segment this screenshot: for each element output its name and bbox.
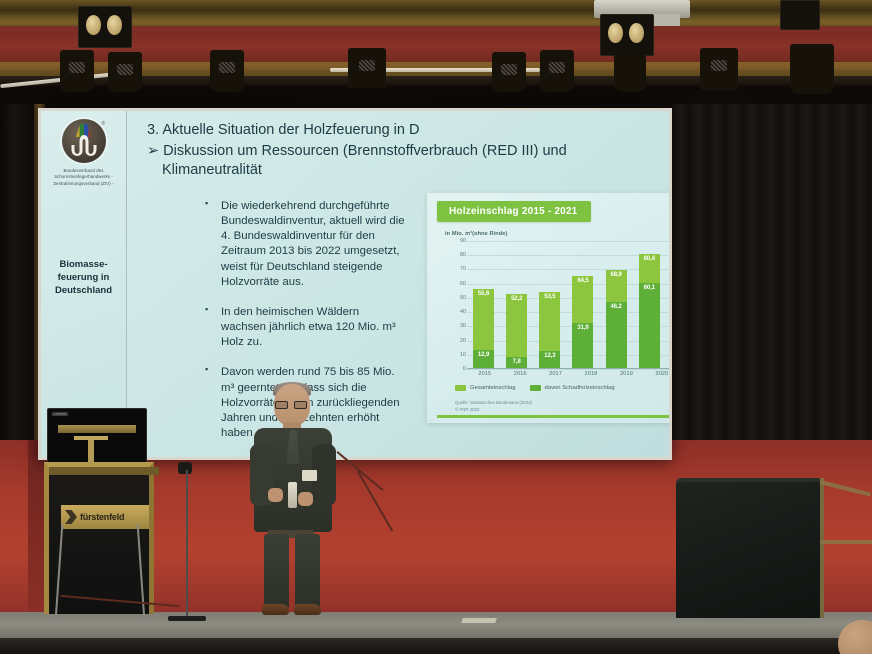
bar-value-label: 55,6 bbox=[473, 291, 494, 297]
bullet-item: Die wiederkehrend durchgeführte Bundeswa… bbox=[205, 199, 405, 290]
presentation-clicker bbox=[288, 482, 297, 508]
presenter-glasses bbox=[275, 401, 309, 409]
chart-axis-unit-label: in Mio. m³(ohne Rinde) bbox=[445, 231, 507, 237]
chart-bottom-rule bbox=[437, 415, 669, 418]
y-tick-label: 80 bbox=[453, 252, 466, 258]
stage-rail-post bbox=[820, 478, 824, 618]
chart-x-tick-labels: 2015201620172018201920202021 bbox=[467, 371, 669, 377]
chart-bar: 68,946,2 bbox=[606, 270, 627, 368]
bar-segment-schadholz: 31,9 bbox=[572, 323, 593, 368]
y-tick-label: 40 bbox=[453, 309, 466, 315]
monitor-base bbox=[74, 436, 108, 440]
light-mesh bbox=[69, 62, 85, 73]
stage-edge bbox=[0, 638, 872, 654]
chart-plot-area: 9080706050403020100 55,612,952,27,853,51… bbox=[453, 241, 669, 369]
presenter-left-hand bbox=[268, 488, 283, 502]
par-can-light bbox=[60, 50, 94, 92]
par-can-light bbox=[790, 44, 834, 94]
registered-trademark-icon: ® bbox=[102, 121, 106, 127]
bar-value-label: 53,5 bbox=[539, 294, 560, 300]
y-tick-label: 50 bbox=[453, 295, 466, 301]
par-can-light bbox=[492, 52, 526, 92]
x-tick-label: 2018 bbox=[580, 371, 601, 377]
par-can-light bbox=[540, 50, 574, 92]
bar-segment-schadholz: 12,9 bbox=[473, 350, 494, 368]
y-tick-label: 70 bbox=[453, 266, 466, 272]
lamp-lens bbox=[629, 23, 644, 43]
fnr-leaf-icon bbox=[668, 396, 669, 409]
venue-name-label: fürstenfeld bbox=[80, 512, 124, 522]
venue-arrow-icon bbox=[65, 510, 77, 524]
subheading-line-2: Klimaneutralität bbox=[162, 161, 659, 180]
chart-bar: 55,612,9 bbox=[473, 289, 494, 368]
source-line: Quelle: Statistisches Bundesamt (2022) bbox=[455, 400, 532, 407]
par-can-light bbox=[108, 52, 142, 92]
bar-value-label: 60,1 bbox=[639, 285, 660, 291]
x-tick-label: 2020 bbox=[651, 371, 669, 377]
presenter-leg bbox=[295, 534, 320, 608]
ceiling-rig bbox=[0, 0, 872, 104]
y-tick-label: 0 bbox=[453, 366, 466, 372]
floor-tape-mark bbox=[461, 618, 497, 623]
stage-light bbox=[600, 14, 654, 56]
stage-rail bbox=[820, 540, 872, 544]
slide-heading: 3. Aktuelle Situation der Holzfeuerung i… bbox=[147, 121, 655, 139]
legend-swatch-gesamteinschlag bbox=[455, 385, 466, 391]
bar-segment-gesamteinschlag: 68,9 bbox=[606, 270, 627, 302]
bar-value-label: 12,9 bbox=[473, 352, 494, 358]
bar-value-label: 12,3 bbox=[539, 353, 560, 359]
chart-legend: Gesamteinschlag davon Schadholzeinschlag bbox=[455, 385, 615, 391]
copyright-line: © FNR 2022 bbox=[455, 407, 532, 414]
chart-source-note: Quelle: Statistisches Bundesamt (2022) ©… bbox=[455, 400, 532, 413]
subheading-line-1: Diskussion um Ressourcen (Brennstoffverb… bbox=[163, 143, 566, 159]
par-can-light bbox=[210, 50, 244, 92]
bar-segment-gesamteinschlag: 55,6 bbox=[473, 289, 494, 350]
bar-value-label: 64,5 bbox=[572, 278, 593, 284]
light-mesh bbox=[711, 60, 727, 71]
bar-segment-schadholz: 60,1 bbox=[639, 283, 660, 368]
y-tick-label: 20 bbox=[453, 338, 466, 344]
microphone-stand bbox=[186, 470, 188, 620]
presentation-slide: ® Bundesverband des Schornsteinfegerhand… bbox=[41, 111, 669, 457]
light-mesh bbox=[549, 62, 565, 73]
ziv-logo-icon: ® bbox=[62, 119, 106, 163]
chimney-sweep-emblem-icon bbox=[70, 134, 98, 156]
bar-value-label: 31,9 bbox=[572, 325, 593, 331]
lamp-lens bbox=[107, 15, 122, 35]
legend-item-total: Gesamteinschlag bbox=[455, 385, 516, 391]
legend-swatch-schadholz bbox=[530, 385, 541, 391]
holzeinschlag-chart: Holzeinschlag 2015 - 2021 in Mio. m³(ohn… bbox=[427, 193, 669, 423]
bullet-item: In den heimischen Wäldern wachsen jährli… bbox=[205, 305, 405, 350]
y-tick-label: 10 bbox=[453, 352, 466, 358]
ceiling-speaker bbox=[296, 88, 428, 104]
chart-bar: 53,512,3 bbox=[539, 292, 560, 368]
bar-segment-gesamteinschlag: 53,5 bbox=[539, 292, 560, 351]
chart-bar: 64,531,9 bbox=[572, 276, 593, 368]
arrow-bullet-icon: ➢ bbox=[147, 143, 159, 159]
x-axis-line bbox=[467, 368, 669, 369]
chart-title-banner: Holzeinschlag 2015 - 2021 bbox=[437, 201, 591, 222]
y-tick-label: 60 bbox=[453, 281, 466, 287]
grid-line bbox=[467, 369, 669, 370]
lectern-top-shelf bbox=[49, 467, 159, 475]
par-can-light bbox=[700, 48, 738, 94]
light-mesh bbox=[219, 62, 235, 73]
presenter-name-badge bbox=[302, 470, 317, 481]
microphone-head bbox=[178, 462, 192, 474]
presenter-shoe bbox=[294, 604, 321, 615]
presenter-leg bbox=[264, 534, 289, 608]
legend-label-schadholz: davon Schadholzeinschlag bbox=[545, 385, 615, 391]
lamp-lens bbox=[608, 23, 623, 43]
bar-value-label: 7,8 bbox=[506, 359, 527, 365]
slide-subheading: ➢Diskussion um Ressourcen (Brennstoffver… bbox=[147, 142, 659, 180]
microphone-base bbox=[168, 616, 206, 621]
x-tick-label: 2016 bbox=[510, 371, 531, 377]
association-name: Bundesverband des Schornsteinfegerhandwe… bbox=[43, 168, 125, 187]
legend-label-gesamteinschlag: Gesamteinschlag bbox=[470, 385, 516, 391]
bar-segment-gesamteinschlag: 64,5 bbox=[572, 276, 593, 322]
light-mesh bbox=[501, 64, 517, 75]
bar-segment-schadholz: 12,3 bbox=[539, 351, 560, 368]
slide-sidebar: ® Bundesverband des Schornsteinfegerhand… bbox=[41, 111, 127, 457]
bar-segment-gesamteinschlag: 80,4 bbox=[639, 254, 660, 283]
legend-item-damage: davon Schadholzeinschlag bbox=[530, 385, 615, 391]
bar-value-label: 80,4 bbox=[639, 256, 660, 262]
monitor-screen-glow bbox=[58, 425, 136, 433]
x-tick-label: 2015 bbox=[474, 371, 495, 377]
stage-light bbox=[78, 6, 132, 48]
presenter-legs bbox=[264, 534, 320, 608]
lamp-lens bbox=[86, 15, 101, 35]
glasses-lens bbox=[275, 401, 288, 409]
x-tick-label: 2019 bbox=[616, 371, 637, 377]
par-can-light bbox=[614, 54, 646, 92]
bar-segment-schadholz: 7,8 bbox=[506, 357, 527, 368]
y-tick-label: 90 bbox=[453, 238, 466, 244]
chart-bar: 52,27,8 bbox=[506, 294, 527, 368]
slide-sidebar-title: Biomasse- feuerung in Deutschland bbox=[43, 259, 125, 297]
bar-value-label: 52,2 bbox=[506, 296, 527, 302]
glasses-lens bbox=[294, 401, 307, 409]
conference-hall-photo: ® Bundesverband des Schornsteinfegerhand… bbox=[0, 0, 872, 654]
chart-bar: 80,460,1 bbox=[639, 254, 660, 368]
monitor-brand-label: Lenovo bbox=[52, 412, 68, 416]
bar-value-label: 68,9 bbox=[606, 272, 627, 278]
bar-segment-schadholz: 46,2 bbox=[606, 302, 627, 368]
slide-content: 3. Aktuelle Situation der Holzfeuerung i… bbox=[127, 111, 669, 457]
ceiling-speaker bbox=[640, 90, 752, 104]
presenter-right-hand bbox=[298, 492, 313, 506]
bar-value-label: 46,2 bbox=[606, 304, 627, 310]
stage-curtain-right bbox=[672, 104, 872, 464]
bar-segment-gesamteinschlag: 52,2 bbox=[506, 294, 527, 357]
light-mesh bbox=[117, 64, 133, 75]
covered-table bbox=[676, 482, 824, 618]
light-mesh bbox=[359, 60, 375, 71]
x-tick-label: 2017 bbox=[545, 371, 566, 377]
presenter-person bbox=[238, 384, 348, 622]
chart-bars: 55,612,952,27,853,512,364,531,968,946,28… bbox=[467, 241, 669, 368]
presenter-shoe bbox=[262, 604, 289, 615]
y-tick-label: 30 bbox=[453, 323, 466, 329]
monitor-stand bbox=[88, 440, 94, 462]
stage-light bbox=[780, 0, 820, 30]
